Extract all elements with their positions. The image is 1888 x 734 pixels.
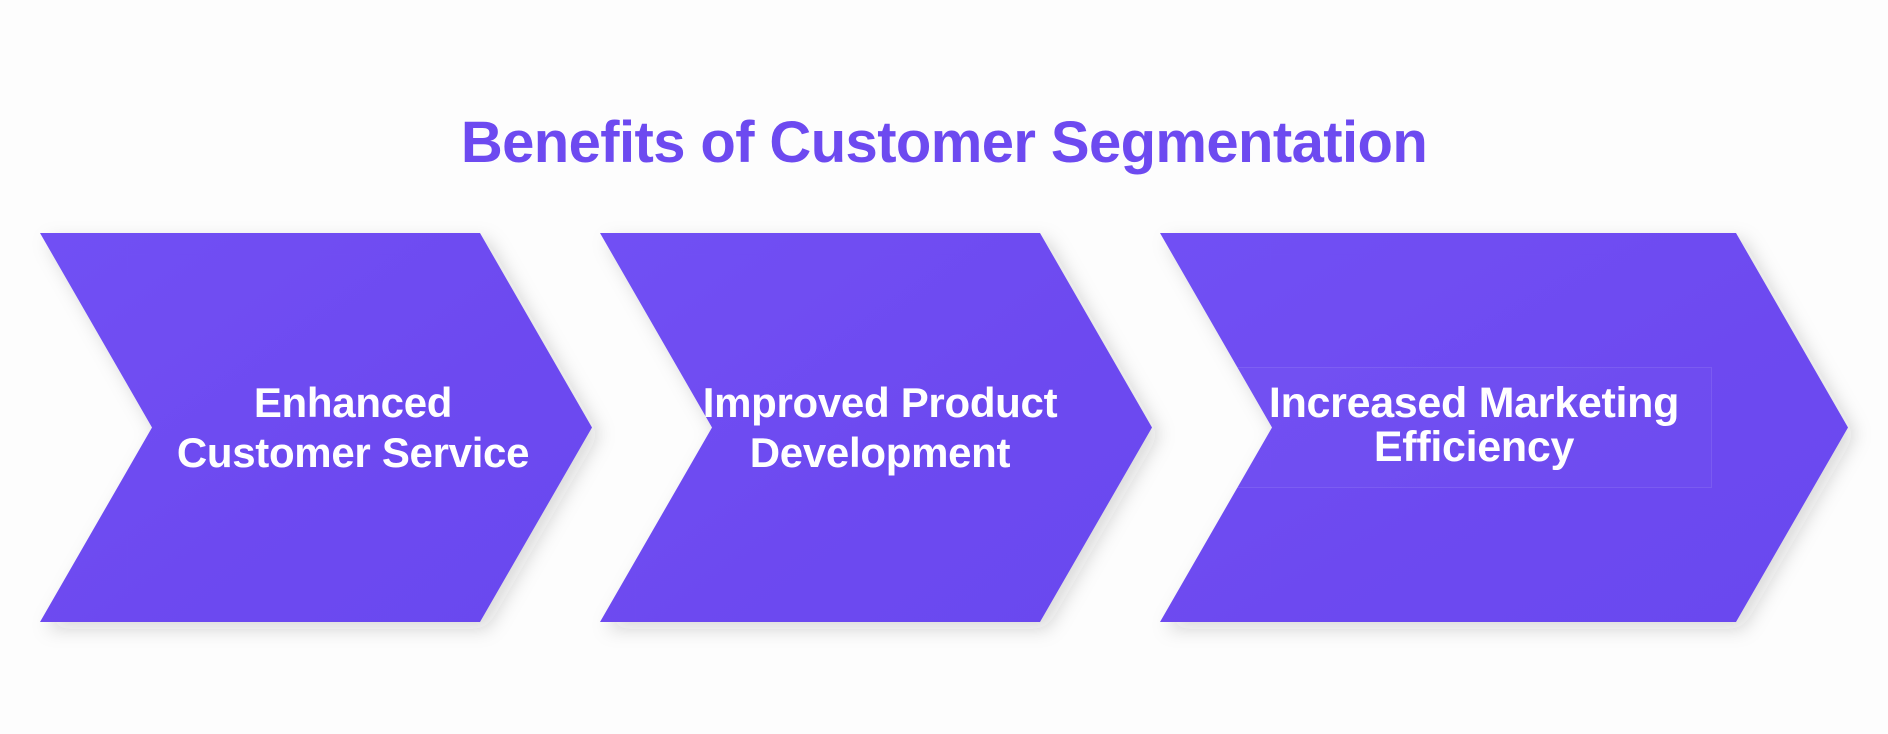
chevron-step-2[interactable]: Improved Product Development [600,233,1152,622]
chevron-step-1[interactable]: Enhanced Customer Service [40,233,592,622]
chevron-shape-2 [600,233,1152,622]
title-block: Benefits of Customer Segmentation [0,112,1888,175]
chevron-shape-3 [1160,233,1848,622]
chevron-shape-1 [40,233,592,622]
slide-canvas: Benefits of Customer Segmentation [0,0,1888,734]
chevron-process-flow: Enhanced Customer Service [0,233,1888,622]
page-title: Benefits of Customer Segmentation [461,112,1427,175]
chevron-step-3[interactable]: Increased Marketing Efficiency [1160,233,1848,622]
